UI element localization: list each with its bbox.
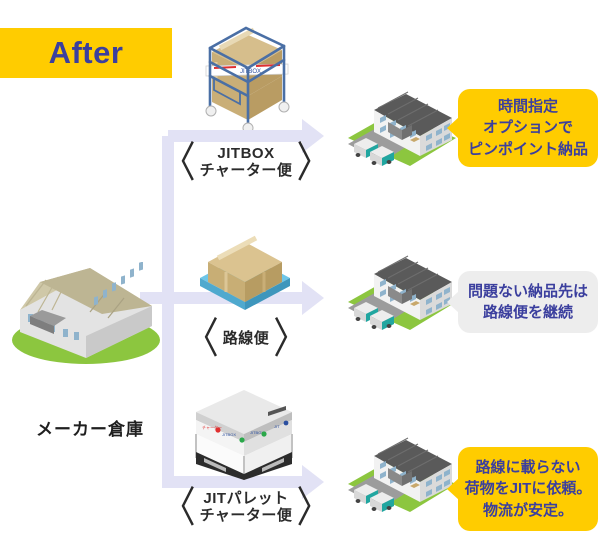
route-label-jitbox: 〈 JITBOX チャーター便 〉 xyxy=(182,146,310,180)
after-badge-label: After xyxy=(0,35,172,71)
after-badge: After xyxy=(0,28,172,78)
jitbox-roll-cart-icon: JITBOX xyxy=(196,18,296,130)
jit-pallet-container-icon: チャーター JITBOX JITBOX JIT xyxy=(182,390,306,480)
origin-label: メーカー倉庫 xyxy=(10,415,170,440)
route-label-jit-pallet: 〈 JITパレット チャーター便 〉 xyxy=(178,491,314,525)
callout-tail-icon xyxy=(447,478,459,500)
callout3-line2: 荷物をJITに依頼。 xyxy=(465,478,592,499)
bracket-close: 〉 xyxy=(296,142,330,185)
delivery-center-building-icon xyxy=(344,252,460,332)
callout-stable-logistics: 路線に載らない 荷物をJITに依頼。 物流が安定。 xyxy=(458,447,598,531)
bracket-close: 〉 xyxy=(273,318,307,361)
callout1-line1: 時間指定 xyxy=(498,96,558,117)
callout1-line3: ピンポイント納品 xyxy=(468,139,588,160)
delivery-center-building-icon xyxy=(344,434,460,514)
after-logistics-diagram: After メーカー倉庫 xyxy=(0,0,600,539)
callout2-line2: 路線便を継続 xyxy=(483,302,573,323)
callout-tail-icon xyxy=(447,291,459,313)
carton-on-blue-pallet-icon xyxy=(190,228,300,310)
warehouse-isometric-icon xyxy=(6,262,166,372)
callout-tail-icon xyxy=(447,117,459,139)
callout2-line1: 問題ない納品先は xyxy=(468,281,588,302)
callout3-line3: 物流が安定。 xyxy=(483,500,573,521)
delivery-center-building-icon xyxy=(344,88,460,168)
bracket-close: 〉 xyxy=(296,487,330,530)
callout-keep-rosen: 問題ない納品先は 路線便を継続 xyxy=(458,271,598,333)
route-jit-pallet-line2: チャーター便 xyxy=(200,508,293,525)
callout-time-slot: 時間指定 オプションで ピンポイント納品 xyxy=(458,89,598,167)
bracket-open: 〈 xyxy=(162,142,196,185)
route-jitbox-line2: チャーター便 xyxy=(200,163,293,180)
arrowhead-rosenbin-icon xyxy=(302,281,324,315)
svg-text:JITBOX: JITBOX xyxy=(222,432,236,437)
route-jit-pallet-line1: JITパレット xyxy=(200,491,293,508)
route-label-rosenbin: 〈 路線便 〉 xyxy=(182,322,310,356)
callout3-line1: 路線に載らない xyxy=(475,457,580,478)
bracket-open: 〈 xyxy=(185,318,219,361)
bracket-open: 〈 xyxy=(162,487,196,530)
svg-text:JIT: JIT xyxy=(274,424,280,429)
route-jitbox-line1: JITBOX xyxy=(200,146,293,163)
route-rosenbin-line1: 路線便 xyxy=(223,331,270,348)
svg-text:JITBOX: JITBOX xyxy=(240,69,261,75)
callout1-line2: オプションで xyxy=(483,117,573,138)
